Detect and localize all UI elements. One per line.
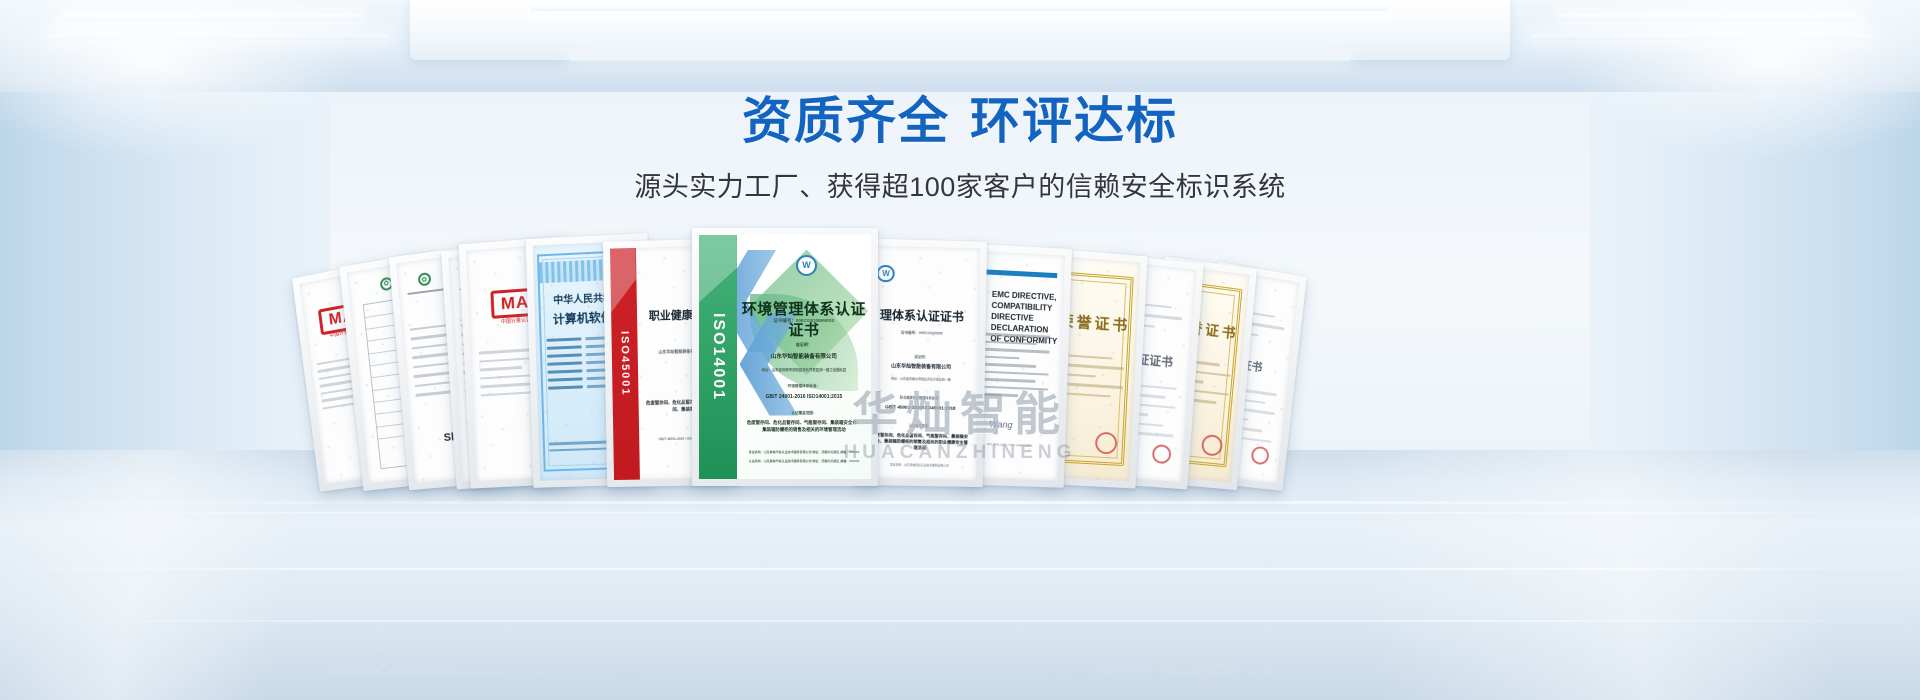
scope-value: 危废暂存间、危化品暂存间、气瓶暂存间、集装箱安全仓、集装箱防爆柜的销售及相关的环… [745,420,863,433]
iso-spine-band: ISO45001 [614,671,642,676]
authorized-signature: Wang [989,419,1013,430]
faux-text-line [978,340,1037,345]
company-name: 山东华灿智能装备有限公司 [737,352,871,360]
certificate-frame[interactable]: ISO14001W环境管理体系认证证书证书编号：00EC03Q0895R0S兹证… [692,228,878,486]
ceiling-light-strip [58,14,361,21]
footer-line-2: 认证机构：山东泉城华标认证技术服务有限公司 地址：济南市天桥区 邮编：25000… [744,459,865,463]
standard-label: 环境管理体系标准： [737,384,871,389]
faux-text-line [319,380,353,388]
title-part-1: 资质齐全 [742,93,950,149]
page-subtitle: 源头实力工厂、获得超100家客户的信赖安全标识系统 [0,165,1920,204]
certificate-headline: 理体系认证证书 [865,306,979,326]
field-label [548,378,583,382]
footer-line-1: 发证机构：山东泉城华标认证技术服务有限公司 地址：济南市天桥区 邮编：25000… [744,450,865,454]
certificate-gallery: MA中国计量认证✿✿She✿检验报MA中国计量认证中华人民共和国计算机软件著IS… [0,226,1920,486]
field-label [547,362,582,366]
qualification-banner: 资质齐全环评达标 源头实力工厂、获得超100家客户的信赖安全标识系统 MA中国计… [0,0,1920,700]
certificate-reflection: ISO14001W环境管理体系认证证书证书编号：00EC03Q0895R0S兹证… [692,672,878,676]
room-ceiling [0,0,1920,92]
certification-emblem-icon: W [796,255,817,276]
ceiling-light-strip [570,58,1350,62]
faux-text-line [978,348,1050,354]
spine-cut-decoration [699,235,737,308]
faux-text-line [480,366,522,371]
field-label [548,386,583,390]
faux-text-line [413,362,451,369]
field-label [547,370,582,374]
faux-text-line [977,370,1049,376]
iso-standard-label: ISO45001 [618,331,631,397]
ceiling-light-strip [47,34,389,40]
ceiling-light-strip [1558,14,1861,21]
field-label [547,354,582,358]
ceiling-light-strip [1531,34,1873,40]
scope-value: 危废暂存间、危化品暂存间、气瓶暂存间、集装箱安全仓、集装箱防爆柜的销售及相关的职… [869,432,970,453]
certificate-reflections: MA中国计量认证✿✿She✿检验报MA中国计量认证中华人民共和国计算机软件著IS… [0,486,1920,676]
iso-standard-label: ISO14001 [709,313,727,401]
ceiling-light-strip [530,6,1390,11]
certificate-body: W环境管理体系认证证书证书编号：00EC03Q0895R0S兹证明：山东华灿智能… [737,235,871,479]
field-label [546,338,581,342]
spine-cut-decoration [610,248,637,318]
faux-text-block [976,333,1054,404]
field-label [547,346,582,350]
company-address: 地址：山东省济南市济阳区济北开发区纬一路工业园北区 [737,367,871,372]
faux-text-line [977,385,1049,391]
page-title: 资质齐全环评达标 [0,92,1920,151]
company-label: 兹证明： [737,342,871,348]
faux-text-line [977,363,1036,368]
faux-text-line [977,378,1036,383]
iso-spine-band: ISO14001 [699,235,737,479]
title-part-2: 环评达标 [970,93,1178,149]
banner-headings: 资质齐全环评达标 源头实力工厂、获得超100家客户的信赖安全标识系统 [0,92,1920,204]
standard-value: GB/T 24001-2016 ISO14001:2015 [737,394,871,400]
certificate-paper: ISO14001W环境管理体系认证证书证书编号：00EC03Q0895R0S兹证… [699,235,871,479]
scope-label: 认证覆盖范围： [737,411,871,416]
certificate-paper: W理体系认证证书证书编号：00EC03Q0895兹证明：山东华灿智能装备有限公司… [862,245,980,480]
certificate-number: 证书编号：00EC03Q0895R0S [737,318,871,324]
